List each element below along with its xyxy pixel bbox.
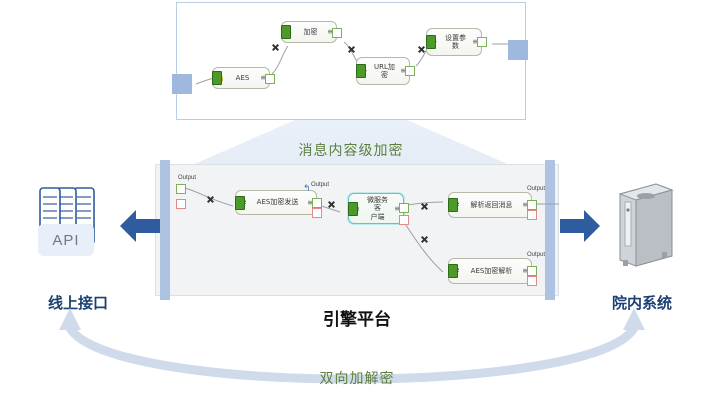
engine-node-label: 解析返回消息 xyxy=(463,201,520,209)
bidirectional-label: 双向加解密 xyxy=(252,368,462,388)
node-input-port[interactable] xyxy=(212,71,222,85)
node-output-port-ok[interactable] xyxy=(405,66,415,76)
node-output-port-ok[interactable] xyxy=(265,74,275,84)
node-output-port-ok[interactable] xyxy=(399,203,409,213)
detail-flow-edges xyxy=(176,2,526,122)
reply-arrow-icon: ↰ xyxy=(303,183,311,194)
node-input-port[interactable] xyxy=(348,202,358,216)
output-label: Output xyxy=(527,186,545,192)
detail-node-label: URL加 密 xyxy=(371,63,398,79)
right-double-arrow-icon xyxy=(560,205,600,247)
callout-label: 消息内容级加密 xyxy=(176,140,526,160)
node-output-port-ok[interactable] xyxy=(312,198,322,208)
api-badge: API xyxy=(38,224,94,256)
engine-platform-title: 引擎平台 xyxy=(252,305,462,330)
node-input-port[interactable] xyxy=(235,196,245,210)
detail-node-label: AES xyxy=(227,74,258,82)
engine-node-parse-response[interactable]: ⇄ 解析返回消息 ≡ xyxy=(448,192,532,218)
server-tower-icon xyxy=(612,180,676,272)
node-input-port[interactable] xyxy=(426,35,436,49)
node-output-port-err[interactable] xyxy=(527,276,537,286)
engine-node-label: AES加密发送 xyxy=(250,198,305,206)
detail-node-url-encrypt[interactable]: ‹› URL加 密 ≡ xyxy=(356,57,410,85)
node-output-port-err[interactable] xyxy=(312,208,322,218)
node-input-port[interactable] xyxy=(281,25,291,39)
engine-node-label: 微服务客 户端 xyxy=(363,196,392,220)
detail-node-encrypt[interactable]: ✎ 加密 ≡ xyxy=(281,21,337,43)
node-input-port[interactable] xyxy=(448,198,458,212)
detail-node-aes[interactable]: 🔒 AES ≡ xyxy=(212,67,270,89)
node-output-port-err[interactable] xyxy=(527,210,537,220)
output-label: Output xyxy=(527,252,545,258)
node-output-port-err[interactable] xyxy=(399,215,409,225)
diagram-canvas: 🔒 AES ≡ ✎ 加密 ≡ ‹› URL加 密 ≡ ‹› 设置参 数 ≡ 消息… xyxy=(0,0,704,403)
engine-node-label: AES加密解析 xyxy=(463,267,520,275)
node-output-port-ok[interactable] xyxy=(527,200,537,210)
node-output-port-ok[interactable] xyxy=(527,266,537,276)
api-endpoint-group: API xyxy=(38,182,118,264)
output-label: Output xyxy=(311,182,329,188)
node-input-port[interactable] xyxy=(356,64,366,78)
left-double-arrow-icon xyxy=(120,205,160,247)
node-input-port[interactable] xyxy=(448,264,458,278)
engine-node-aes-parse[interactable]: ⇄ AES加密解析 ≡ xyxy=(448,258,532,284)
engine-node-microservice-client[interactable]: ◉ 微服务客 户端 ≡ xyxy=(348,193,404,224)
node-output-port-ok[interactable] xyxy=(477,37,487,47)
detail-node-label: 设置参 数 xyxy=(441,34,470,50)
detail-node-label: 加密 xyxy=(296,28,325,36)
node-output-port-ok[interactable] xyxy=(332,28,342,38)
detail-node-set-params[interactable]: ‹› 设置参 数 ≡ xyxy=(426,28,482,56)
